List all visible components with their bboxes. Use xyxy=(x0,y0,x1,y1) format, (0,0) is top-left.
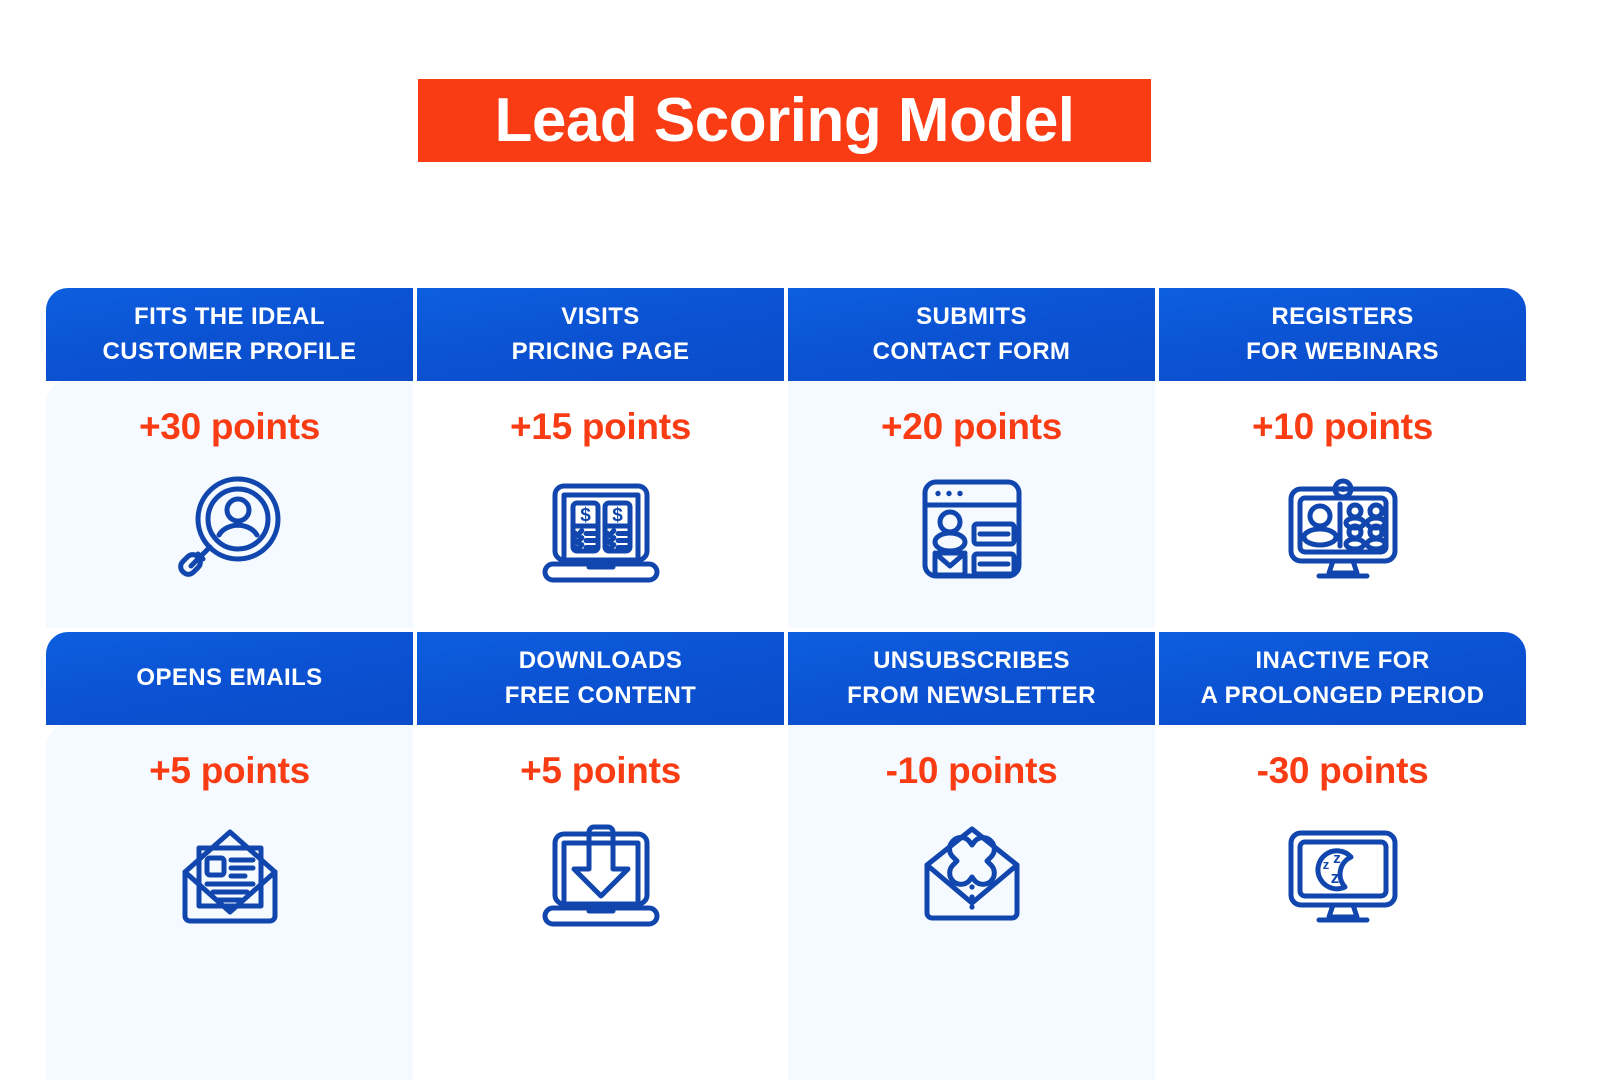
card-header-line-2: FOR WEBINARS xyxy=(1246,335,1439,370)
card-header: DOWNLOADS FREE CONTENT xyxy=(417,632,784,725)
magnifier-person-icon xyxy=(167,476,293,582)
card-points: -30 points xyxy=(1257,752,1429,789)
lead-scoring-infographic: Lead Scoring Model FITS THE IDEAL CUSTOM… xyxy=(0,0,1610,1080)
card-body: -10 points xyxy=(788,725,1155,1080)
card-header-line-1: VISITS xyxy=(561,300,639,335)
scoring-card-opens-emails[interactable]: OPENS EMAILS +5 points xyxy=(46,632,413,1080)
card-header: OPENS EMAILS xyxy=(46,632,413,725)
card-header: INACTIVE FOR A PROLONGED PERIOD xyxy=(1159,632,1526,725)
card-header-line-2: FREE CONTENT xyxy=(505,679,696,714)
open-envelope-newsletter-icon xyxy=(167,820,293,926)
card-header-line-1: INACTIVE FOR xyxy=(1255,644,1429,679)
card-points: +5 points xyxy=(149,752,310,789)
scoring-card-visits-pricing-page[interactable]: VISITS PRICING PAGE +15 points xyxy=(417,288,784,628)
envelope-x-icon xyxy=(909,820,1035,926)
card-header-line-2: A PROLONGED PERIOD xyxy=(1201,679,1485,714)
svg-text:z: z xyxy=(1322,857,1329,872)
svg-text:$: $ xyxy=(580,505,591,526)
card-header: FITS THE IDEAL CUSTOMER PROFILE xyxy=(46,288,413,381)
scoring-card-downloads-free-content[interactable]: DOWNLOADS FREE CONTENT +5 points xyxy=(417,632,784,1080)
scoring-card-fits-ideal-customer-profile[interactable]: FITS THE IDEAL CUSTOMER PROFILE +30 poin… xyxy=(46,288,413,628)
title-banner: Lead Scoring Model xyxy=(418,79,1151,162)
card-body: +20 points xyxy=(788,381,1155,628)
scoring-card-unsubscribes-from-newsletter[interactable]: UNSUBSCRIBES FROM NEWSLETTER -10 points xyxy=(788,632,1155,1080)
monitor-webinar-icon xyxy=(1280,476,1406,582)
card-header-line-1: OPENS EMAILS xyxy=(136,661,322,696)
card-header-line-1: DOWNLOADS xyxy=(519,644,683,679)
card-header: REGISTERS FOR WEBINARS xyxy=(1159,288,1526,381)
card-header-line-1: REGISTERS xyxy=(1271,300,1413,335)
card-points: +15 points xyxy=(510,408,691,445)
card-header: VISITS PRICING PAGE xyxy=(417,288,784,381)
card-header-line-2: CONTACT FORM xyxy=(873,335,1071,370)
scoring-card-inactive-prolonged-period[interactable]: INACTIVE FOR A PROLONGED PERIOD -30 poin… xyxy=(1159,632,1526,1080)
card-points: -10 points xyxy=(886,752,1058,789)
card-body: +30 points xyxy=(46,381,413,628)
laptop-pricing-icon: $ $ xyxy=(538,476,664,582)
scoring-card-registers-for-webinars[interactable]: REGISTERS FOR WEBINARS +10 points xyxy=(1159,288,1526,628)
scoring-card-submits-contact-form[interactable]: SUBMITS CONTACT FORM +20 points xyxy=(788,288,1155,628)
card-body: +15 points xyxy=(417,381,784,628)
card-header-line-2: PRICING PAGE xyxy=(512,335,690,370)
card-header-line-2: CUSTOMER PROFILE xyxy=(103,335,357,370)
monitor-sleep-icon: z z z xyxy=(1280,820,1406,926)
card-body: +5 points xyxy=(417,725,784,1080)
card-header-line-1: SUBMITS xyxy=(916,300,1027,335)
card-header: UNSUBSCRIBES FROM NEWSLETTER xyxy=(788,632,1155,725)
card-body: +5 points xyxy=(46,725,413,1080)
card-header-line-2: FROM NEWSLETTER xyxy=(847,679,1096,714)
card-points: +5 points xyxy=(520,752,681,789)
card-points: +10 points xyxy=(1252,408,1433,445)
svg-text:z: z xyxy=(1330,868,1339,887)
card-header-line-1: UNSUBSCRIBES xyxy=(873,644,1070,679)
card-points: +30 points xyxy=(139,408,320,445)
svg-text:z: z xyxy=(1333,850,1341,867)
card-body: -30 points z xyxy=(1159,725,1526,1080)
card-header: SUBMITS CONTACT FORM xyxy=(788,288,1155,381)
card-body: +10 points xyxy=(1159,381,1526,628)
scoring-card-grid: FITS THE IDEAL CUSTOMER PROFILE +30 poin… xyxy=(46,288,1526,1080)
card-header-line-1: FITS THE IDEAL xyxy=(134,300,325,335)
laptop-download-icon xyxy=(538,820,664,926)
svg-text:$: $ xyxy=(612,505,623,526)
browser-contact-form-icon xyxy=(909,476,1035,582)
card-points: +20 points xyxy=(881,408,1062,445)
page-title: Lead Scoring Model xyxy=(494,90,1074,152)
